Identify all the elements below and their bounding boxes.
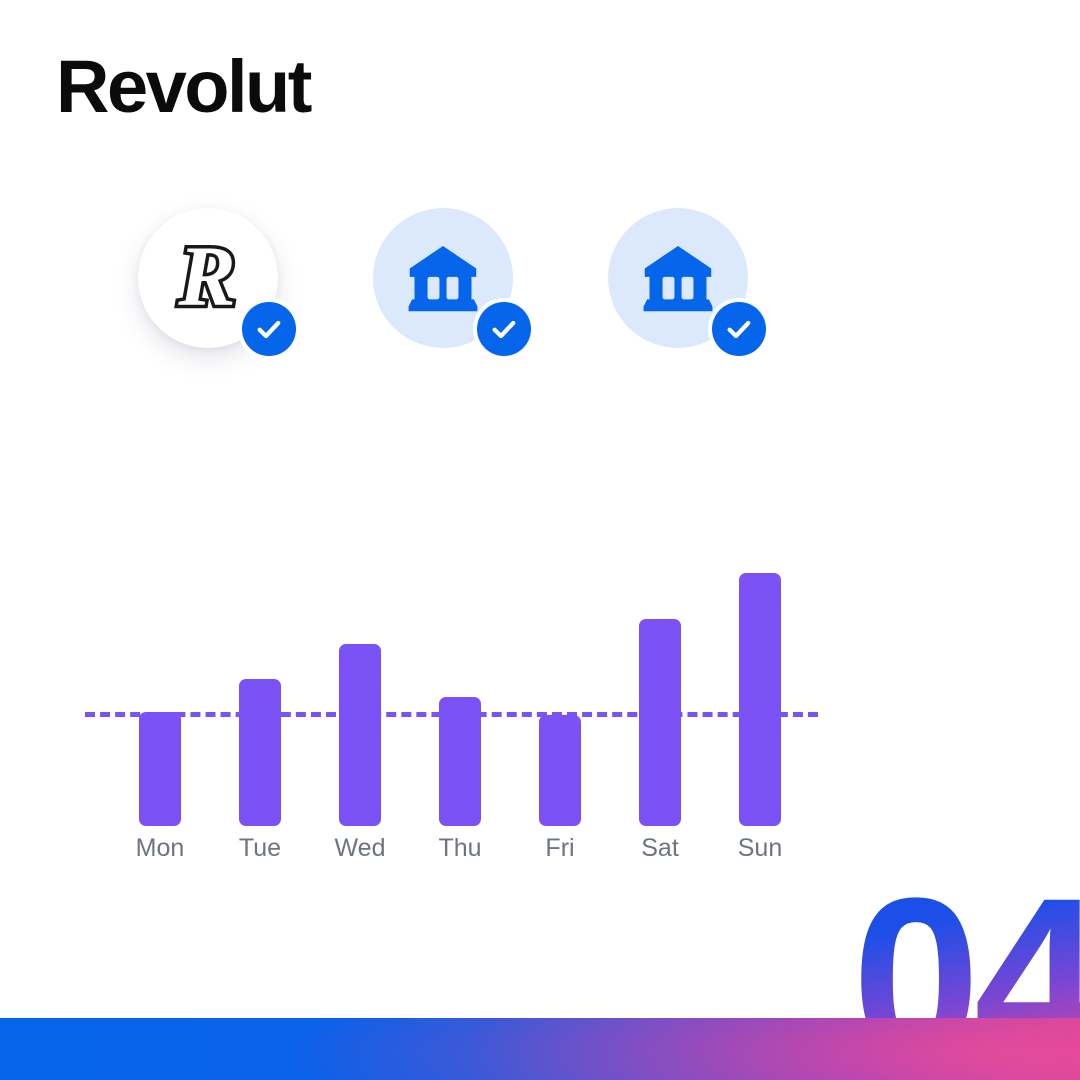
chart-bar — [639, 619, 681, 826]
badge-ring — [242, 302, 296, 356]
verified-badge — [473, 298, 535, 360]
connected-accounts-row: R — [138, 208, 748, 348]
check-icon — [724, 314, 754, 344]
verified-badge — [708, 298, 770, 360]
weekly-activity-chart: MonTueWedThuFriSatSun — [0, 548, 1080, 878]
connection-item-linked-bank-2[interactable] — [608, 208, 748, 348]
chart-x-label: Mon — [115, 836, 205, 861]
revolut-r-logo-icon: R — [178, 233, 235, 319]
revolut-wordmark: Revolut — [56, 50, 310, 124]
chart-bar — [139, 712, 181, 826]
poster-canvas: Revolut R — [0, 0, 1080, 1080]
badge-ring — [477, 302, 531, 356]
bottom-accent-bar — [0, 1018, 1080, 1080]
chart-x-label: Wed — [315, 836, 405, 861]
connection-item-revolut-account[interactable]: R — [138, 208, 278, 348]
bank-icon — [640, 240, 716, 316]
connection-item-linked-bank-1[interactable] — [373, 208, 513, 348]
chart-x-label: Fri — [515, 836, 605, 861]
chart-bar — [439, 697, 481, 826]
chart-x-label: Sat — [615, 836, 705, 861]
chart-x-axis-labels: MonTueWedThuFriSatSun — [110, 836, 810, 876]
bank-icon — [405, 240, 481, 316]
chart-bar — [239, 679, 281, 826]
chart-x-label: Tue — [215, 836, 305, 861]
chart-bar — [339, 644, 381, 826]
badge-ring — [712, 302, 766, 356]
chart-bar — [539, 715, 581, 826]
verified-badge — [238, 298, 300, 360]
check-icon — [254, 314, 284, 344]
chart-bar — [739, 573, 781, 826]
chart-x-label: Sun — [715, 836, 805, 861]
check-icon — [489, 314, 519, 344]
chart-x-label: Thu — [415, 836, 505, 861]
chart-plot-area — [110, 548, 810, 826]
